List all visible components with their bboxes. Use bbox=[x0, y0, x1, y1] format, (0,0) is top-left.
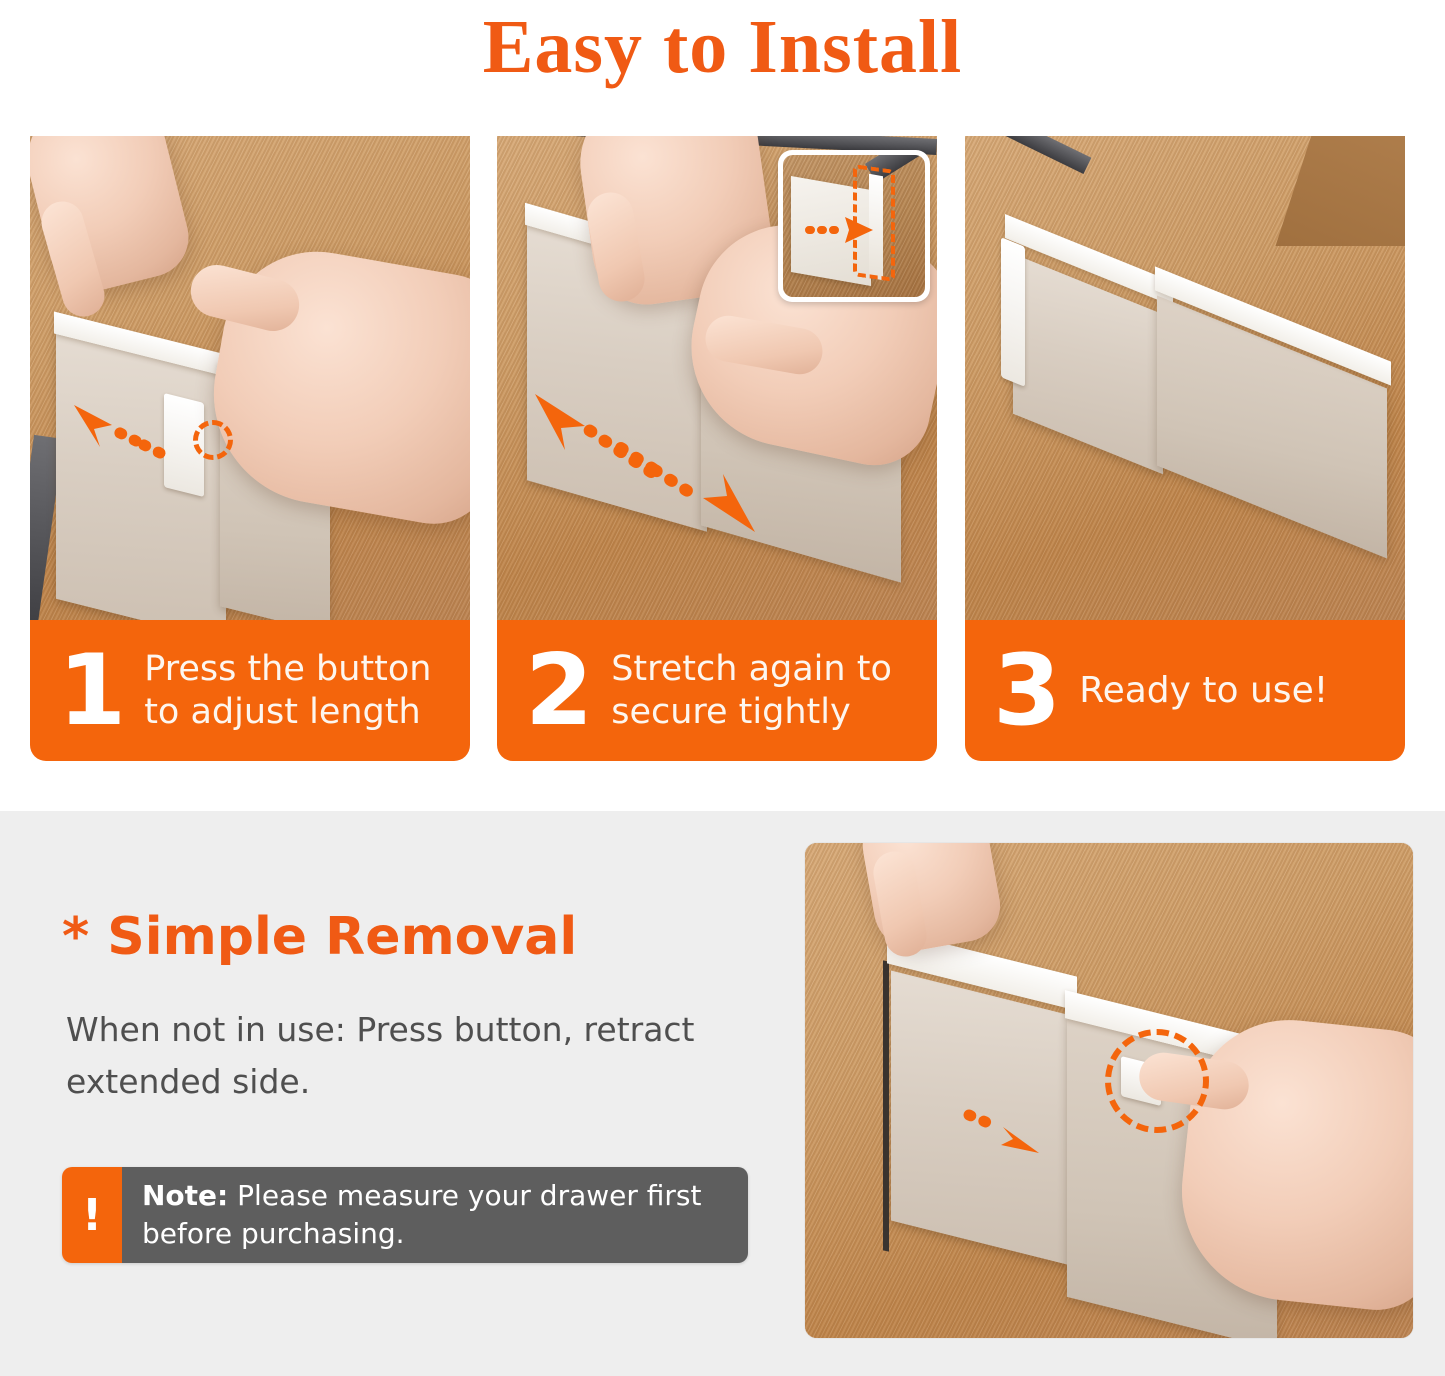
solid-arrow-right-icon bbox=[963, 1101, 1053, 1171]
step-panel-3: 3 Ready to use! bbox=[965, 136, 1405, 761]
step-1-label-line2: to adjust length bbox=[144, 691, 460, 734]
inset-diagram bbox=[778, 150, 930, 302]
step-1-number: 1 bbox=[58, 642, 126, 740]
removal-heading: * Simple Removal bbox=[62, 907, 577, 967]
step-2-label-line1: Stretch again to bbox=[611, 648, 927, 691]
button-highlight-circle bbox=[1105, 1029, 1209, 1133]
note-text: Note: Please measure your drawer first b… bbox=[122, 1167, 748, 1263]
divider-end-cap bbox=[1001, 237, 1025, 387]
step-panel-2: 2 Stretch again to secure tightly bbox=[497, 136, 937, 761]
drawer-edge bbox=[883, 960, 889, 1251]
inset-photo bbox=[783, 155, 925, 297]
step-1-label: Press the button to adjust length bbox=[144, 648, 470, 734]
step-3-number: 3 bbox=[993, 642, 1061, 740]
step-2-label: Stretch again to secure tightly bbox=[611, 648, 937, 734]
removal-section: * Simple Removal When not in use: Press … bbox=[0, 811, 1445, 1376]
inset-arrow-right-icon bbox=[805, 213, 885, 247]
step-1-label-line1: Press the button bbox=[144, 648, 460, 691]
step-1-caption: 1 Press the button to adjust length bbox=[30, 620, 470, 761]
note-banner: ! Note: Please measure your drawer first… bbox=[62, 1167, 748, 1263]
step-3-label: Ready to use! bbox=[1079, 669, 1405, 712]
step-1-photo bbox=[30, 136, 470, 620]
note-label: Note: bbox=[142, 1179, 228, 1212]
button-highlight-circle bbox=[193, 420, 233, 460]
page-title: Easy to Install bbox=[0, 4, 1445, 90]
dashed-arrow-down-right-icon bbox=[603, 436, 793, 546]
step-3-photo bbox=[965, 136, 1405, 620]
step-2-label-line2: secure tightly bbox=[611, 691, 927, 734]
step-3-caption: 3 Ready to use! bbox=[965, 620, 1405, 761]
step-2-caption: 2 Stretch again to secure tightly bbox=[497, 620, 937, 761]
exclamation-icon: ! bbox=[62, 1167, 122, 1263]
step-2-photo bbox=[497, 136, 937, 620]
install-section: Easy to Install bbox=[0, 0, 1445, 811]
step-panel-1: 1 Press the button to adjust length bbox=[30, 136, 470, 761]
removal-photo bbox=[805, 843, 1413, 1338]
step-2-number: 2 bbox=[525, 642, 593, 740]
dashed-arrow-left-icon bbox=[50, 391, 180, 471]
removal-body-text: When not in use: Press button, retract e… bbox=[66, 1004, 766, 1108]
